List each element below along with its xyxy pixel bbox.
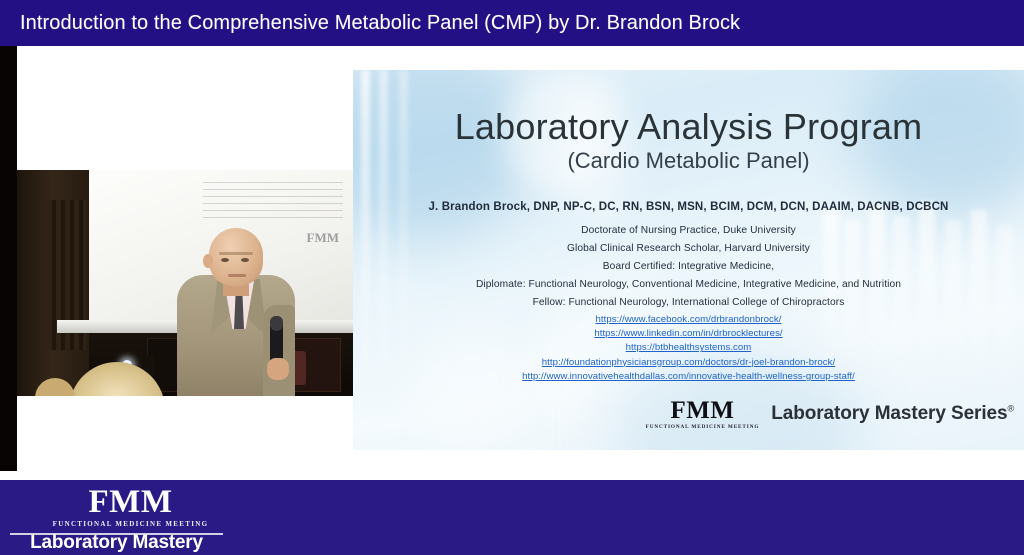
speaker-eye-left: [221, 258, 229, 262]
series-text: Laboratory Mastery Series: [771, 403, 1007, 424]
projected-text-lines: [203, 182, 343, 218]
link-btb-health-systems[interactable]: https://btbhealthsystems.com: [353, 341, 1024, 355]
slide-title: Laboratory Analysis Program: [353, 106, 1024, 148]
presenter-links: https://www.facebook.com/drbrandonbrock/…: [353, 313, 1024, 384]
link-linkedin[interactable]: https://www.linkedin.com/in/drbrocklectu…: [353, 327, 1024, 341]
projected-fmm-logo: FMM: [307, 230, 339, 246]
credential-line-5: Fellow: Functional Neurology, Internatio…: [353, 297, 1024, 308]
fmm-wordmark: FMM: [646, 398, 760, 423]
speaker-mouth: [228, 274, 246, 277]
link-facebook[interactable]: https://www.facebook.com/drbrandonbrock/: [353, 313, 1024, 327]
slide-brand-logo: FMM FUNCTIONAL MEDICINE MEETING Laborato…: [646, 398, 1014, 430]
video-player-screen: Introduction to the Comprehensive Metabo…: [0, 0, 1024, 555]
speaker-eye-right: [241, 258, 249, 262]
credential-line-2: Global Clinical Research Scholar, Harvar…: [353, 243, 1024, 254]
speaker-hand: [267, 358, 289, 380]
laboratory-mastery-series-label: Laboratory Mastery Series®: [771, 403, 1014, 425]
slide-subtitle: (Cardio Metabolic Panel): [353, 148, 1024, 174]
speaker-ear: [203, 254, 213, 268]
left-dark-band: [0, 46, 17, 471]
footer-fmm-wordmark: FMM: [38, 486, 223, 519]
footer-fmm-logo: FMM FUNCTIONAL MEDICINE MEETING: [38, 486, 223, 528]
credential-line-3: Board Certified: Integrative Medicine,: [353, 261, 1024, 272]
speaker-head: [209, 228, 263, 286]
speaker-brow: [219, 252, 253, 255]
fmm-tagline: FUNCTIONAL MEDICINE MEETING: [646, 424, 760, 430]
credential-line-1: Doctorate of Nursing Practice, Duke Univ…: [353, 225, 1024, 236]
footer-fmm-tagline: FUNCTIONAL MEDICINE MEETING: [38, 520, 223, 528]
window-title-bar: Introduction to the Comprehensive Metabo…: [0, 0, 1024, 46]
presenter-credentials: J. Brandon Brock, DNP, NP-C, DC, RN, BSN…: [353, 201, 1024, 213]
presenter-video[interactable]: FMM: [17, 170, 353, 396]
room-wall: [17, 170, 95, 396]
link-foundation-physicians-group[interactable]: http://foundationphysiciansgroup.com/doc…: [353, 356, 1024, 370]
credential-line-4: Diplomate: Functional Neurology, Convent…: [353, 279, 1024, 290]
fmm-logo: FMM FUNCTIONAL MEDICINE MEETING: [646, 398, 760, 430]
registered-mark-icon: ®: [1007, 404, 1014, 414]
link-innovative-health-dallas[interactable]: http://www.innovativehealthdallas.com/in…: [353, 370, 1024, 384]
footer-series-label: Laboratory Mastery Series: [10, 532, 223, 555]
footer-brand-bar: FMM FUNCTIONAL MEDICINE MEETING Laborato…: [0, 480, 1024, 555]
presentation-slide: Laboratory Analysis Program (Cardio Meta…: [353, 70, 1024, 450]
page-title: Introduction to the Comprehensive Metabo…: [0, 12, 740, 35]
